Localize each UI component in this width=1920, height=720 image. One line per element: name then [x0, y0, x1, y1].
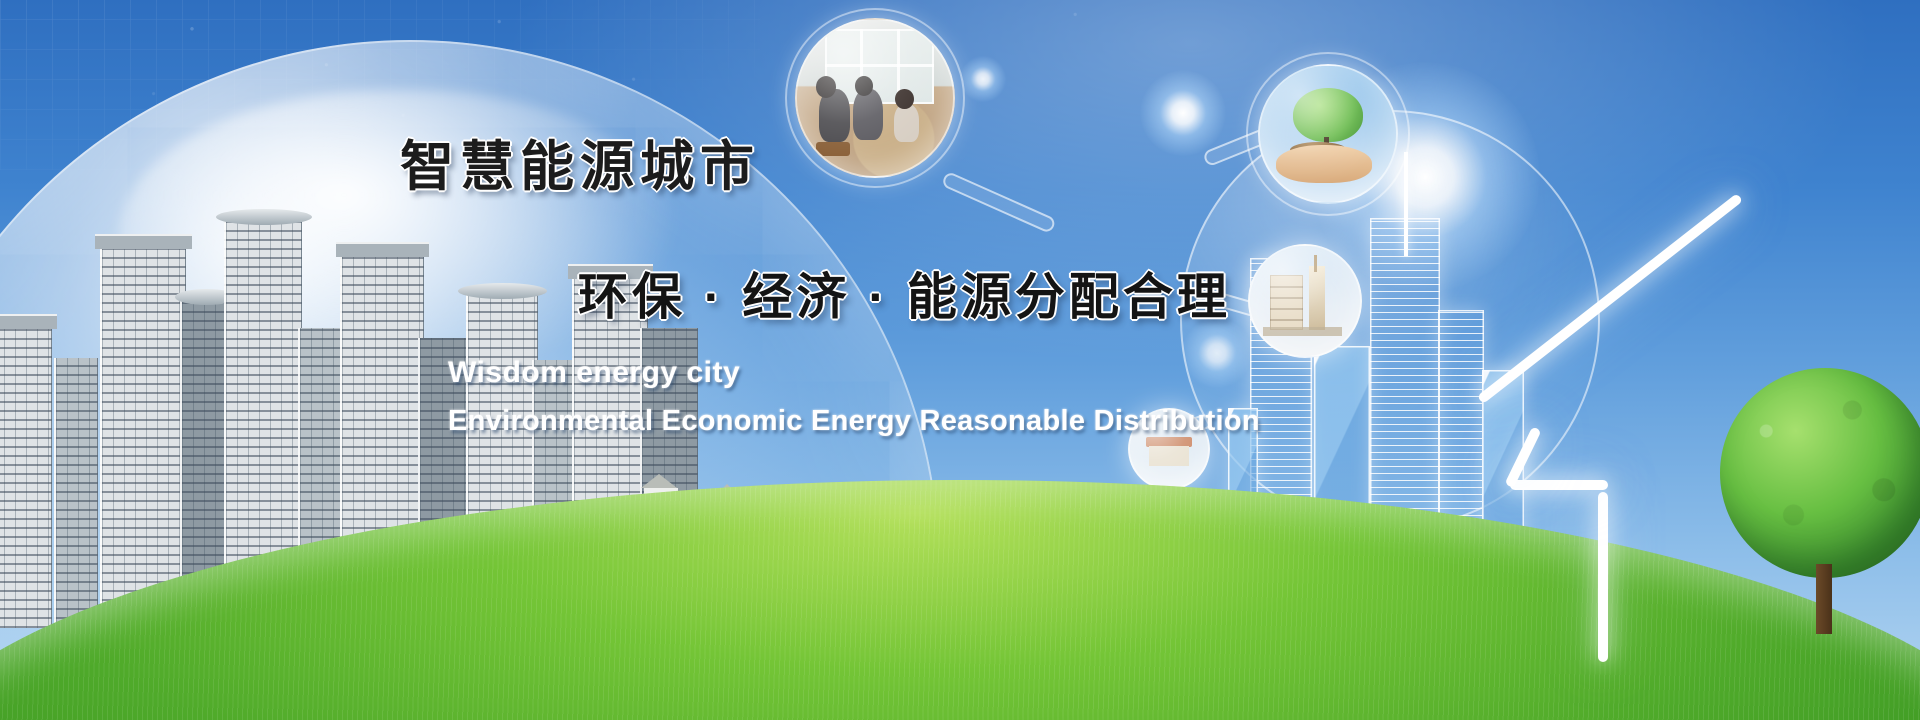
village-wall [1149, 446, 1190, 466]
tagline-english-secondary: Environmental Economic Energy Reasonable… [448, 405, 1260, 438]
residential-tower [0, 328, 52, 628]
round-tree [1720, 368, 1920, 628]
house-roof-right [1505, 426, 1542, 488]
energy-city-banner: 智慧能源城市 环保 · 经济 · 能源分配合理 Wisdom energy ci… [0, 0, 1920, 720]
residential-tower [100, 248, 186, 628]
lens-flare-tiny-icon [960, 56, 1006, 102]
mini-house-roof [641, 474, 677, 488]
residential-tower [54, 358, 98, 628]
tree-crown-icon [1720, 368, 1920, 578]
tree-trunk-icon [1816, 564, 1832, 634]
village-roof [1146, 437, 1193, 448]
interior-wall [1270, 275, 1303, 330]
headline-chinese: 智慧能源城市 [400, 140, 1560, 194]
banner-copy: 智慧能源城市 环保 · 经济 · 能源分配合理 Wisdom energy ci… [400, 140, 1560, 194]
interior-antenna [1314, 255, 1317, 273]
interior-column [1309, 266, 1324, 330]
house-wall [1598, 492, 1608, 662]
house-eave [1510, 480, 1608, 490]
house-interior-bubble [1248, 244, 1362, 358]
subheadline-chinese: 环保 · 经济 · 能源分配合理 [578, 272, 1231, 322]
tagline-english-primary: Wisdom energy city [448, 356, 740, 390]
interior-floor [1263, 327, 1342, 336]
